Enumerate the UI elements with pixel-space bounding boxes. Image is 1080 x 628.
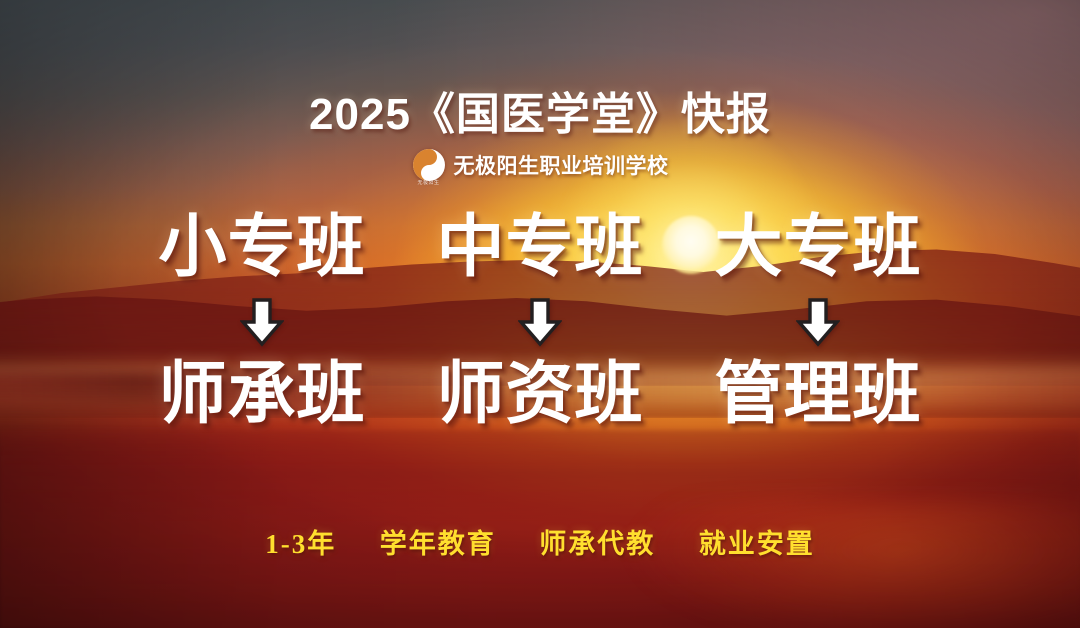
tagline-duration: 1-3年 — [265, 522, 336, 561]
logo-subtext: 无极阳生 — [417, 180, 439, 186]
arrow-down-icon — [240, 297, 284, 347]
tagline-item-2: 师承代教 — [539, 522, 655, 561]
poster-headline: 2025《国医学堂》快报 — [0, 78, 1080, 142]
school-name: 无极阳生职业培训学校 — [454, 150, 669, 180]
poster-canvas: 2025《国医学堂》快报 无极阳生 无极阳生职业培训学校 小专班 师承班 — [0, 0, 1080, 628]
program-column-2: 中专班 师资班 — [414, 212, 666, 429]
program-column-3: 大专班 管理班 — [692, 212, 944, 429]
poster-tagline: 1-3年 学年教育 师承代教 就业安置 — [0, 522, 1080, 561]
tagline-item-3: 就业安置 — [699, 522, 815, 561]
program-grid: 小专班 师承班 中专班 师资班 大专班 管理班 — [0, 212, 1080, 429]
school-logo-lockup: 无极阳生 无极阳生职业培训学校 — [0, 148, 1080, 182]
program-top-3: 大专班 — [714, 212, 921, 283]
arrow-down-icon — [518, 297, 562, 347]
arrow-down-icon — [796, 297, 840, 347]
program-bottom-1: 师承班 — [158, 359, 365, 430]
program-top-2: 中专班 — [436, 212, 643, 283]
program-bottom-2: 师资班 — [436, 359, 643, 430]
program-column-1: 小专班 师承班 — [136, 212, 388, 429]
program-bottom-3: 管理班 — [714, 359, 921, 430]
poster-content: 2025《国医学堂》快报 无极阳生 无极阳生职业培训学校 小专班 师承班 — [0, 0, 1080, 628]
tagline-item-1: 学年教育 — [380, 522, 496, 561]
yinyang-icon: 无极阳生 — [412, 148, 446, 182]
program-top-1: 小专班 — [158, 212, 365, 283]
